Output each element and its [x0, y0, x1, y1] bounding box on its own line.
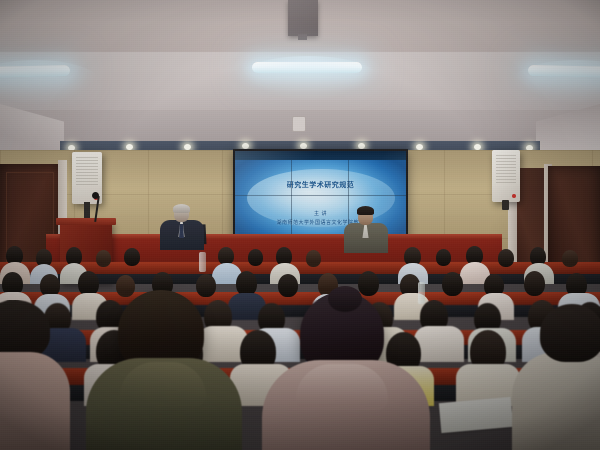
audience-body: [414, 326, 464, 362]
speaker-right: [492, 150, 520, 202]
water-bottle: [418, 282, 425, 304]
hoodie-hood: [296, 364, 388, 410]
audience-head: [436, 249, 451, 266]
water-bottle: [199, 252, 206, 272]
control-panel-box: [292, 116, 306, 132]
presenter-table-edge: [46, 234, 502, 239]
audience-head: [524, 271, 545, 296]
projector-mount-arm: [298, 34, 307, 40]
audience-head: [358, 271, 379, 296]
speaker-right-grille: [496, 155, 516, 183]
audience-head: [306, 250, 321, 267]
audience-head: [116, 275, 135, 297]
hair-bun: [328, 286, 362, 312]
audience-head: [278, 274, 298, 297]
audience-head: [442, 272, 463, 296]
tube-light-left: [0, 65, 70, 78]
presenter-left-hair: [173, 204, 190, 213]
audience-head: [124, 248, 140, 266]
audience-head: [540, 304, 600, 362]
tube-light-center: [252, 62, 362, 73]
speaker-left-grille: [76, 157, 98, 185]
presenter-right-hair: [357, 206, 374, 215]
audience-body: [512, 352, 600, 450]
ceiling-projector: [288, 0, 318, 36]
audience-head: [562, 250, 578, 267]
notebook-papers: [439, 397, 513, 433]
audience-body: [0, 352, 70, 450]
audience-head: [96, 250, 111, 267]
audience-head: [196, 274, 216, 297]
microphone-head: [92, 192, 99, 199]
audience-head: [248, 249, 263, 266]
speaker-right-mount: [502, 200, 509, 210]
audience-head: [498, 249, 514, 267]
speaker-right-led: [512, 194, 516, 198]
lecture-hall-photograph: 研究生学术研究规范 主 讲 湖南师范大学外国语言文化学院教授: [0, 0, 600, 450]
tube-light-right: [528, 65, 600, 78]
lectern-top: [56, 218, 116, 225]
